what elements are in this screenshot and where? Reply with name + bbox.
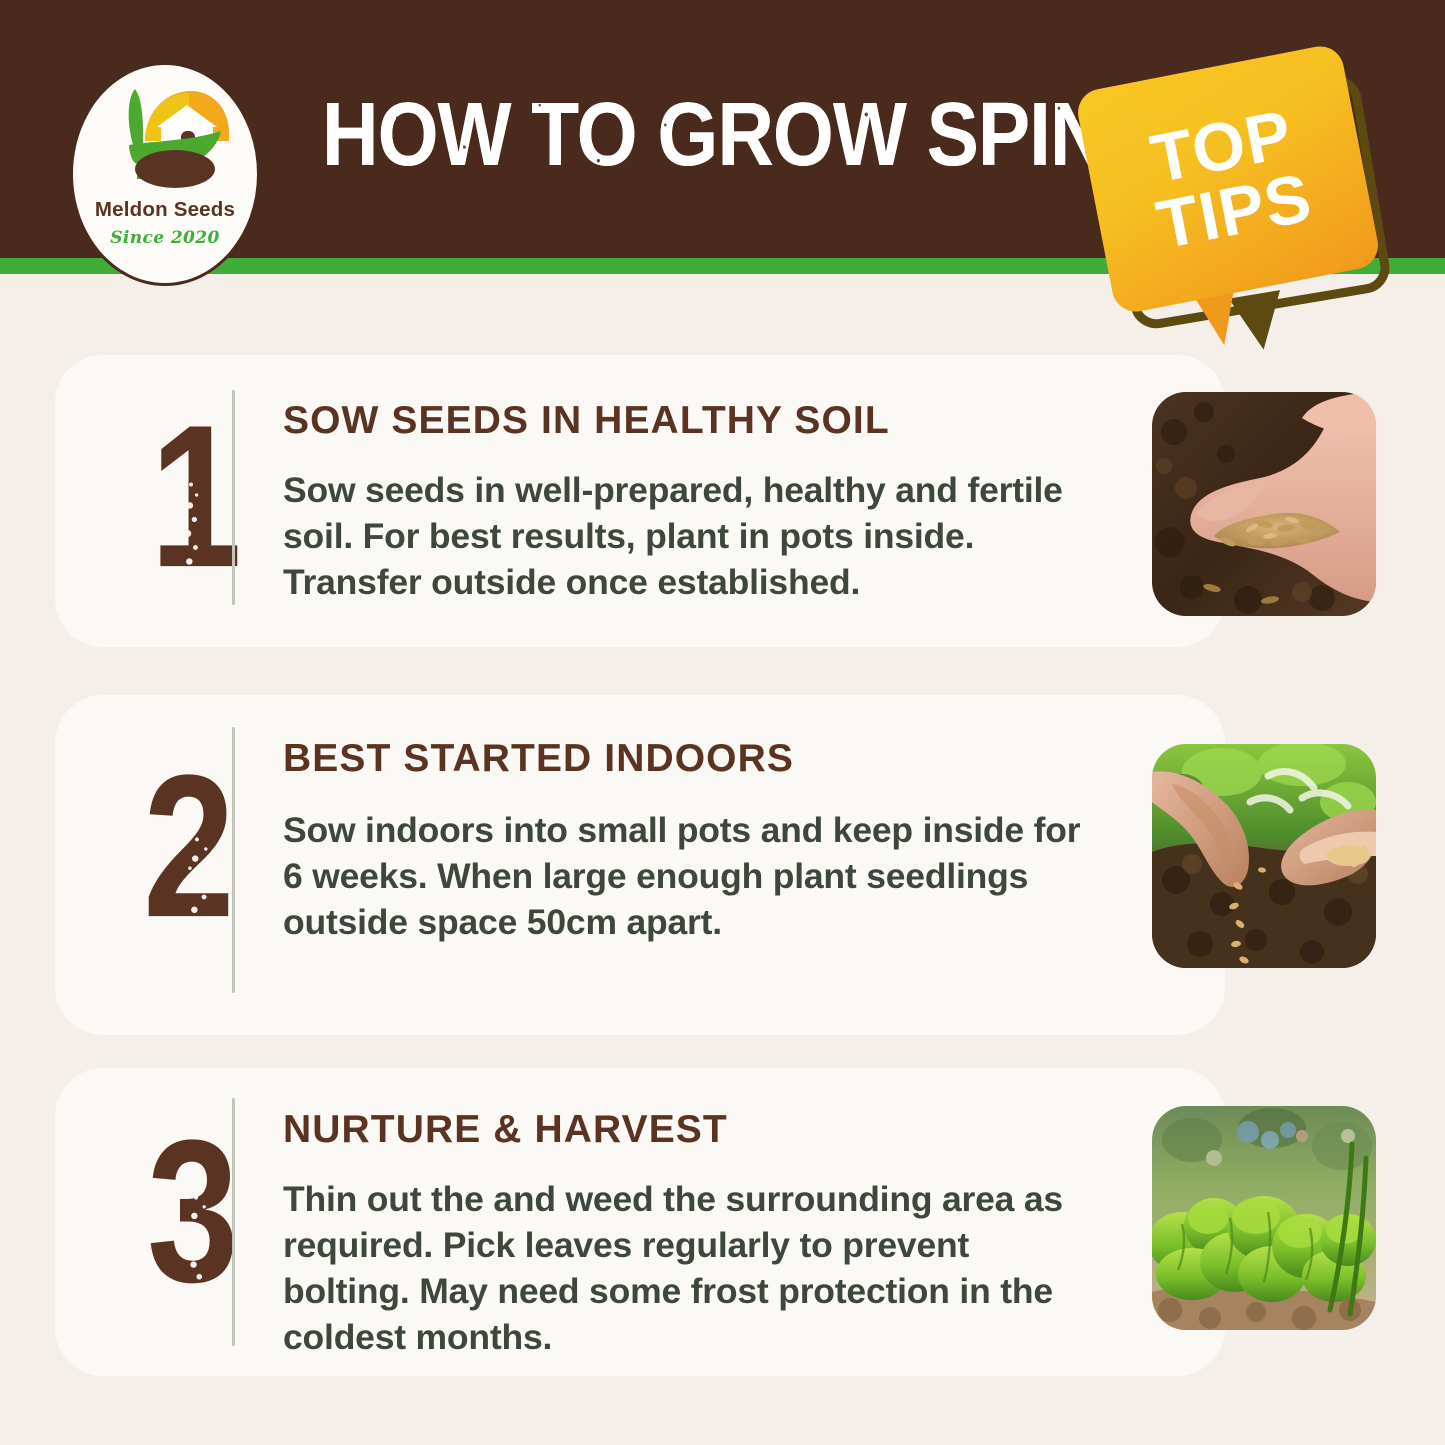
- step-body-2: Sow indoors into small pots and keep ins…: [283, 807, 1083, 945]
- logo-circle: Meldon Seeds Since 2020: [70, 62, 260, 286]
- step-number-2: 2: [143, 745, 235, 948]
- infographic-page: HOW TO GROW SPINACH Meldon Seeds Since 2…: [0, 0, 1445, 1445]
- leafy-greens-growing-icon: [1152, 1106, 1376, 1330]
- hand-holding-seeds-icon: [1152, 392, 1376, 616]
- step-photo-2: [1152, 744, 1376, 968]
- top-tips-badge[interactable]: TOP TIPS: [1093, 58, 1423, 363]
- step-heading-3: NURTURE & HARVEST: [283, 1108, 728, 1152]
- step-divider-2: [232, 727, 235, 993]
- step-photo-1: [1152, 392, 1376, 616]
- logo-brand-name: Meldon Seeds: [73, 198, 257, 222]
- step-number-3: 3: [147, 1110, 239, 1313]
- step-divider-3: [232, 1098, 235, 1346]
- brand-logo[interactable]: Meldon Seeds Since 2020: [70, 62, 260, 286]
- farmhouse-leaf-seed-icon: [95, 83, 241, 195]
- page-title: HOW TO GROW SPINACH: [322, 82, 1159, 187]
- step-card-1: 1 SOW SEEDS IN HEALTHY SOIL Sow seeds in…: [55, 355, 1225, 647]
- step-heading-2: BEST STARTED INDOORS: [283, 737, 794, 781]
- step-card-2: 2 BEST STARTED INDOORS Sow indoors into …: [55, 695, 1225, 1035]
- step-photo-3: [1152, 1106, 1376, 1330]
- hands-sowing-seeds-icon: [1152, 744, 1376, 968]
- step-divider-1: [232, 390, 235, 605]
- step-body-1: Sow seeds in well-prepared, healthy and …: [283, 467, 1083, 605]
- step-number-1: 1: [150, 395, 242, 598]
- logo-since-text: Since 2020: [73, 228, 257, 248]
- step-card-3: 3 NURTURE & HARVEST Thin out the and wee…: [55, 1068, 1225, 1376]
- step-body-3: Thin out the and weed the surrounding ar…: [283, 1176, 1083, 1360]
- step-heading-1: SOW SEEDS IN HEALTHY SOIL: [283, 399, 890, 443]
